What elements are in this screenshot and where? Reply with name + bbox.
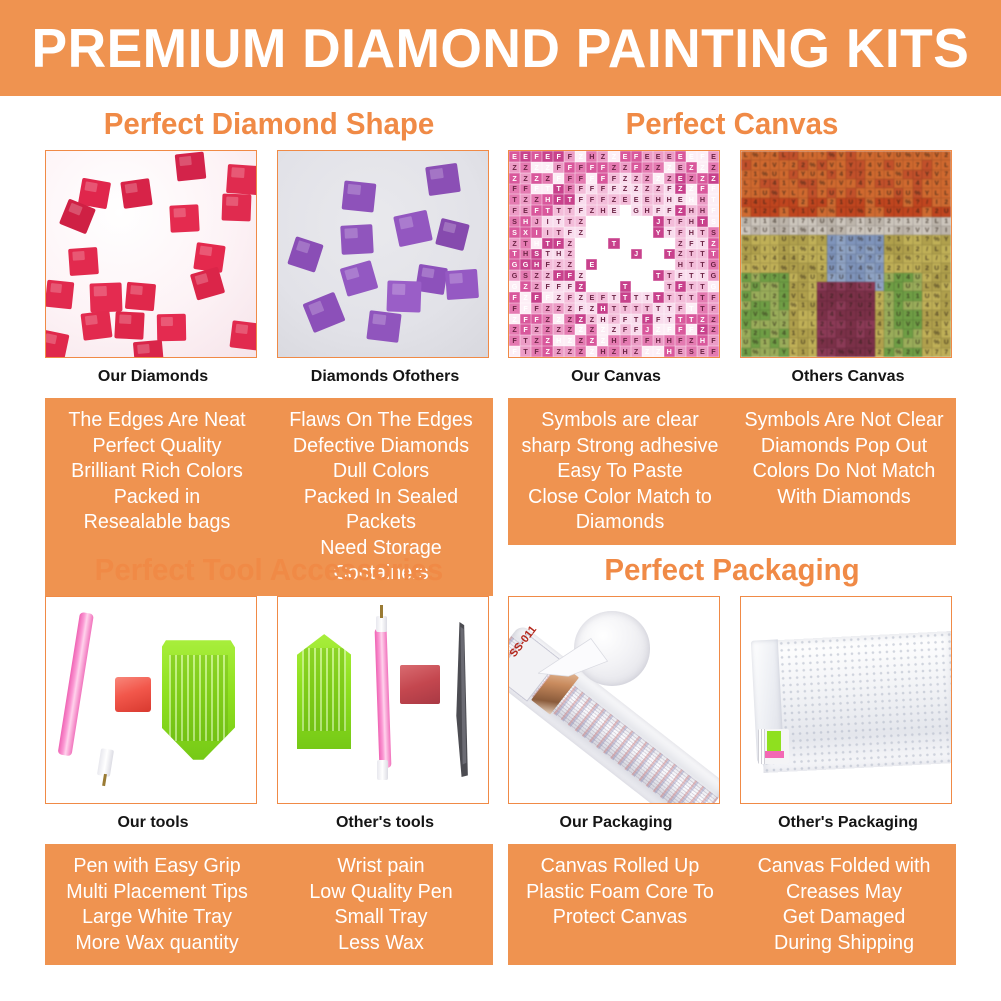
canvas-symbol-cell: ? <box>894 217 904 226</box>
canvas-symbol-cell: 2 <box>827 348 837 357</box>
canvas-symbol-cell: V <box>941 282 951 291</box>
canvas-symbol-cell: V <box>913 320 923 329</box>
page-title: PREMIUM DIAMOND PAINTING KITS <box>32 21 970 76</box>
canvas-symbol-cell: V <box>932 170 942 179</box>
red-drill <box>80 310 112 340</box>
canvas-symbol-cell: % <box>770 282 780 291</box>
canvas-symbol-cell: Z <box>553 346 564 357</box>
canvas-symbol-cell: V <box>770 320 780 329</box>
canvas-symbol-cell: 1 <box>789 245 799 254</box>
compare-line: Symbols Are Not Clear <box>740 407 947 433</box>
canvas-symbol-cell: H <box>520 216 531 227</box>
canvas-symbol-cell: F <box>564 292 575 303</box>
canvas-symbol-cell: Z <box>608 324 619 335</box>
canvas-symbol-cell: F <box>531 151 542 162</box>
canvas-symbol-cell: E <box>686 151 697 162</box>
compare-line: With Diamonds <box>740 484 947 510</box>
canvas-symbol-cell: U <box>894 310 904 319</box>
canvas-symbol-cell: / <box>817 310 827 319</box>
canvas-symbol-cell: ? <box>941 254 951 263</box>
red-drill <box>45 279 75 308</box>
canvas-symbol-cell: Z <box>642 346 653 357</box>
canvas-symbol-cell: S <box>520 270 531 281</box>
canvas-symbol-cell: 1 <box>875 198 885 207</box>
photo-our-packaging: SS-011 <box>508 596 720 804</box>
canvas-symbol-cell: / <box>827 235 837 244</box>
purple-drill <box>425 163 460 196</box>
canvas-symbol-cell: F <box>620 335 631 346</box>
canvas-symbol-cell: % <box>894 348 904 357</box>
canvas-symbol-cell: T <box>620 303 631 314</box>
canvas-symbol-cell: J <box>642 249 653 260</box>
canvas-symbol-cell: H <box>608 335 619 346</box>
canvas-symbol-cell: Z <box>531 162 542 173</box>
canvas-symbol-cell: E <box>586 259 597 270</box>
red-drill <box>115 311 146 339</box>
compare-line: Dull Colors <box>277 458 484 484</box>
canvas-symbol-cell: ? <box>770 198 780 207</box>
canvas-symbol-cell: % <box>808 263 818 272</box>
canvas-symbol-cell: Z <box>575 346 586 357</box>
canvas-symbol-cell: Z <box>675 249 686 260</box>
canvas-symbol-cell: Y <box>789 179 799 188</box>
canvas-symbol-cell: I <box>865 310 875 319</box>
canvas-symbol-cell: F <box>553 194 564 205</box>
canvas-symbol-cell: 1 <box>770 226 780 235</box>
canvas-symbol-cell: V <box>922 348 932 357</box>
canvas-symbol-cell: ? <box>827 329 837 338</box>
canvas-symbol-cell: ? <box>789 235 799 244</box>
canvas-symbol-cell: 4 <box>817 170 827 179</box>
canvas-symbol-cell: I <box>941 245 951 254</box>
canvas-symbol-cell: Y <box>760 273 770 282</box>
canvas-symbol-cell: L <box>741 179 751 188</box>
red-drill <box>229 320 257 350</box>
canvas-symbol-cell: F <box>564 173 575 184</box>
canvas-symbol-cell: T <box>620 270 631 281</box>
canvas-symbol-cell: 7 <box>913 160 923 169</box>
canvas-symbol-cell: F <box>531 346 542 357</box>
canvas-symbol-cell: T <box>697 270 708 281</box>
canvas-symbol-cell: U <box>846 235 856 244</box>
canvas-symbol-cell: % <box>827 207 837 216</box>
canvas-symbol-cell: 2 <box>760 207 770 216</box>
canvas-symbol-cell: 4 <box>760 160 770 169</box>
canvas-symbol-cell: V <box>903 301 913 310</box>
canvas-symbol-cell: 1 <box>798 301 808 310</box>
canvas-symbol-cell: T <box>542 249 553 260</box>
image-cell-others-canvas: L%74L/II?%VI/YLVU%V%V2I44V722%VVLY/4VLU2… <box>740 150 956 387</box>
canvas-symbol-cell: I <box>542 227 553 238</box>
canvas-symbol-cell: F <box>664 184 675 195</box>
canvas-symbol-cell: V <box>751 245 761 254</box>
compare-line: Flaws On The Edges <box>277 407 484 433</box>
canvas-symbol-cell: Z <box>586 303 597 314</box>
canvas-symbol-cell: T <box>631 292 642 303</box>
compare-line: Less Wax <box>277 930 484 956</box>
canvas-symbol-cell: F <box>553 238 564 249</box>
canvas-symbol-cell: 7 <box>846 338 856 347</box>
canvas-symbol-cell: T <box>509 249 520 260</box>
canvas-symbol-cell: ? <box>846 217 856 226</box>
canvas-symbol-cell: Z <box>664 173 675 184</box>
canvas-symbol-cell: F <box>664 324 675 335</box>
canvas-symbol-cell: F <box>597 162 608 173</box>
canvas-symbol-cell: S <box>686 346 697 357</box>
canvas-symbol-cell: T <box>697 216 708 227</box>
canvas-symbol-cell: / <box>922 198 932 207</box>
canvas-symbol-cell: U <box>770 170 780 179</box>
canvas-symbol-cell: L <box>789 348 799 357</box>
canvas-symbol-cell: Y <box>865 151 875 160</box>
canvas-symbol-cell: U <box>808 273 818 282</box>
canvas-symbol-cell: T <box>642 281 653 292</box>
canvas-symbol-cell: 7 <box>856 170 866 179</box>
canvas-symbol-cell: ? <box>751 226 761 235</box>
compare-line: Easy To Paste <box>516 458 723 484</box>
canvas-symbol-cell: 7 <box>836 217 846 226</box>
canvas-symbol-cell: H <box>697 335 708 346</box>
canvas-symbol-cell: H <box>531 259 542 270</box>
canvas-symbol-cell: 7 <box>836 226 846 235</box>
canvas-symbol-cell: U <box>760 188 770 197</box>
canvas-symbol-cell: Z <box>664 162 675 173</box>
canvas-symbol-cell: L <box>875 282 885 291</box>
canvas-symbol-cell: T <box>542 205 553 216</box>
photo-our-tools <box>45 596 257 804</box>
canvas-symbol-cell: 4 <box>827 310 837 319</box>
canvas-symbol-cell: I <box>894 329 904 338</box>
canvas-symbol-cell: T <box>542 238 553 249</box>
canvas-symbol-cell: Z <box>697 173 708 184</box>
canvas-symbol-cell: Z <box>553 259 564 270</box>
wax-square <box>115 677 151 712</box>
canvas-symbol-cell: % <box>836 348 846 357</box>
canvas-symbol-cell: T <box>664 270 675 281</box>
canvas-symbol-cell: T <box>697 227 708 238</box>
canvas-symbol-cell: I <box>808 188 818 197</box>
compare-line: sharp Strong adhesive <box>516 433 723 459</box>
canvas-symbol-cell: 4 <box>875 310 885 319</box>
canvas-symbol-cell: Z <box>542 270 553 281</box>
canvas-symbol-cell: U <box>884 188 894 197</box>
canvas-symbol-cell: L <box>922 282 932 291</box>
canvas-symbol-cell: J <box>631 249 642 260</box>
canvas-symbol-cell: 4 <box>875 320 885 329</box>
canvas-symbol-cell: L <box>856 273 866 282</box>
canvas-symbol-cell: % <box>751 263 761 272</box>
canvas-symbol-cell: J <box>631 227 642 238</box>
canvas-symbol-cell: 4 <box>808 226 818 235</box>
canvas-symbol-cell: I <box>642 216 653 227</box>
canvas-symbol-cell: H <box>531 238 542 249</box>
canvas-symbol-cell: Z <box>631 173 642 184</box>
canvas-symbol-cell: E <box>597 227 608 238</box>
canvas-symbol-cell: U <box>846 198 856 207</box>
canvas-symbol-cell: Z <box>575 281 586 292</box>
canvas-symbol-cell: 2 <box>817 263 827 272</box>
canvas-symbol-cell: U <box>894 320 904 329</box>
canvas-symbol-cell: G <box>509 259 520 270</box>
canvas-symbol-cell: Y <box>836 301 846 310</box>
pen-needle <box>380 605 383 617</box>
canvas-symbol-cell: 2 <box>741 170 751 179</box>
canvas-symbol-cell: 1 <box>779 245 789 254</box>
canvas-symbol-cell: 7 <box>865 291 875 300</box>
pink-pen <box>57 612 93 757</box>
canvas-symbol-cell: T <box>631 281 642 292</box>
compare-line: Small Tray <box>277 904 484 930</box>
canvas-symbol-cell: % <box>884 245 894 254</box>
canvas-symbol-cell: Z <box>586 335 597 346</box>
canvas-symbol-cell: E <box>542 151 553 162</box>
canvas-symbol-cell: Y <box>741 310 751 319</box>
canvas-symbol-cell: % <box>922 151 932 160</box>
canvas-symbol-cell: % <box>932 291 942 300</box>
canvas-symbol-cell: F <box>520 314 531 325</box>
canvas-symbol-cell: ? <box>903 226 913 235</box>
canvas-symbol-cell: T <box>608 270 619 281</box>
canvas-symbol-cell: F <box>597 259 608 270</box>
canvas-symbol-cell: V <box>836 179 846 188</box>
canvas-symbol-cell: 2 <box>789 282 799 291</box>
canvas-symbol-cell: F <box>653 314 664 325</box>
canvas-symbol-cell: G <box>520 259 531 270</box>
photo-other-tools <box>277 596 489 804</box>
canvas-symbol-cell: % <box>751 151 761 160</box>
canvas-symbol-cell: F <box>597 194 608 205</box>
canvas-symbol-cell: F <box>608 184 619 195</box>
canvas-symbol-cell: E <box>675 173 686 184</box>
image-cell-other-diamonds: Diamonds Ofothers <box>277 150 493 387</box>
canvas-symbol-cell: Z <box>509 238 520 249</box>
canvas-symbol-cell: L <box>932 217 942 226</box>
pen-tip-ferrule <box>96 749 113 777</box>
canvas-symbol-cell: E <box>509 151 520 162</box>
canvas-symbol-cell: ? <box>770 301 780 310</box>
canvas-symbol-cell: H <box>653 194 664 205</box>
canvas-symbol-cell: ? <box>827 282 837 291</box>
image-cell-our-tools: Our tools <box>45 596 261 833</box>
purple-drill <box>393 210 432 247</box>
canvas-symbol-cell: L <box>779 151 789 160</box>
canvas-symbol-cell: / <box>846 226 856 235</box>
canvas-symbol-cell: 1 <box>798 207 808 216</box>
canvas-symbol-cell: / <box>856 160 866 169</box>
canvas-symbol-cell: / <box>827 179 837 188</box>
canvas-symbol-cell: L <box>836 245 846 254</box>
canvas-symbol-cell: Z <box>575 335 586 346</box>
canvas-symbol-cell: T <box>520 346 531 357</box>
canvas-symbol-cell: I <box>922 338 932 347</box>
image-cell-other-packaging: Other's Packaging <box>740 596 956 833</box>
canvas-symbol-cell: % <box>760 310 770 319</box>
canvas-symbol-cell: T <box>620 249 631 260</box>
canvas-symbol-cell: / <box>922 245 932 254</box>
canvas-symbol-cell: V <box>932 151 942 160</box>
canvas-symbol-cell: V <box>836 151 846 160</box>
canvas-symbol-cell: 4 <box>856 338 866 347</box>
canvas-symbol-cell: Z <box>509 314 520 325</box>
canvas-symbol-cell: T <box>642 270 653 281</box>
canvas-symbol-cell: 4 <box>751 235 761 244</box>
canvas-symbol-cell: U <box>741 291 751 300</box>
canvas-symbol-cell: % <box>770 188 780 197</box>
canvas-symbol-cell: 2 <box>770 291 780 300</box>
canvas-symbol-cell: 4 <box>779 329 789 338</box>
canvas-symbol-cell: 4 <box>817 198 827 207</box>
canvas-symbol-cell: V <box>913 348 923 357</box>
canvas-symbol-cell: Y <box>922 329 932 338</box>
canvas-symbol-cell: ? <box>922 273 932 282</box>
canvas-symbol-cell: T <box>564 216 575 227</box>
canvas-symbol-cell: T <box>653 249 664 260</box>
canvas-symbol-cell: % <box>808 160 818 169</box>
canvas-symbol-cell: V <box>779 310 789 319</box>
section-title-tool-accessories: Perfect Tool Accessories <box>56 550 482 590</box>
canvas-symbol-cell: F <box>708 335 719 346</box>
canvas-symbol-cell: T <box>642 303 653 314</box>
red-drill <box>157 313 187 340</box>
pink-symbol-grid: EEFEFFZHZZEFEEEEEFEZZZZFFFFFZZFZZZEZZZZZ… <box>509 151 719 357</box>
canvas-symbol-cell: 7 <box>884 329 894 338</box>
canvas-symbol-cell: Z <box>575 259 586 270</box>
canvas-symbol-cell: L <box>817 291 827 300</box>
canvas-symbol-cell: V <box>827 217 837 226</box>
canvas-symbol-cell: % <box>913 188 923 197</box>
canvas-symbol-cell: Z <box>575 216 586 227</box>
canvas-symbol-cell: Y <box>894 198 904 207</box>
canvas-symbol-cell: V <box>789 310 799 319</box>
canvas-symbol-cell: 7 <box>846 170 856 179</box>
photo-others-canvas: L%74L/II?%VI/YLVU%V%V2I44V722%VVLY/4VLU2… <box>740 150 952 358</box>
canvas-symbol-cell: % <box>932 338 942 347</box>
canvas-symbol-cell: ? <box>922 235 932 244</box>
canvas-symbol-cell: T <box>631 303 642 314</box>
canvas-symbol-cell: F <box>542 259 553 270</box>
wax-square <box>400 665 440 704</box>
compare-line: Pen with Easy Grip <box>53 853 260 879</box>
canvas-symbol-cell: 2 <box>903 160 913 169</box>
canvas-symbol-cell: F <box>553 151 564 162</box>
canvas-symbol-cell: I <box>798 310 808 319</box>
canvas-symbol-cell: H <box>675 259 686 270</box>
canvas-symbol-cell: / <box>922 160 932 169</box>
canvas-symbol-cell: I <box>760 348 770 357</box>
canvas-symbol-cell: 1 <box>884 273 894 282</box>
canvas-symbol-cell: 1 <box>922 310 932 319</box>
canvas-symbol-cell: T <box>697 303 708 314</box>
canvas-symbol-cell: I <box>932 198 942 207</box>
canvas-symbol-cell: / <box>913 329 923 338</box>
canvas-symbol-cell: % <box>798 245 808 254</box>
image-row-tools: Our tools <box>45 596 493 833</box>
canvas-symbol-cell: L <box>856 188 866 197</box>
canvas-symbol-cell: T <box>664 216 675 227</box>
canvas-symbol-cell: V <box>941 310 951 319</box>
canvas-symbol-cell: V <box>751 310 761 319</box>
canvas-symbol-cell: E <box>586 292 597 303</box>
canvas-symbol-cell: Z <box>708 324 719 335</box>
canvas-symbol-cell: T <box>686 314 697 325</box>
canvas-symbol-cell: Z <box>575 324 586 335</box>
section-title-canvas: Perfect Canvas <box>519 104 945 144</box>
compare-line: Get Damaged <box>740 904 947 930</box>
canvas-symbol-cell: L <box>913 170 923 179</box>
canvas-symbol-cell: 4 <box>856 179 866 188</box>
canvas-symbol-cell: Z <box>653 162 664 173</box>
canvas-symbol-cell: % <box>846 348 856 357</box>
canvas-symbol-cell: 2 <box>798 198 808 207</box>
canvas-symbol-cell: Z <box>531 335 542 346</box>
canvas-symbol-cell: 1 <box>741 348 751 357</box>
compare-line: Creases May <box>740 879 947 905</box>
section-diamond-shape: Perfect Diamond Shape <box>45 104 493 596</box>
canvas-symbol-cell: 7 <box>846 301 856 310</box>
canvas-symbol-cell: H <box>553 249 564 260</box>
canvas-symbol-cell: ? <box>865 188 875 197</box>
canvas-symbol-cell: F <box>564 184 575 195</box>
canvas-symbol-cell: 4 <box>922 179 932 188</box>
canvas-symbol-cell: F <box>675 303 686 314</box>
canvas-symbol-cell: U <box>903 188 913 197</box>
canvas-symbol-cell: L <box>751 291 761 300</box>
canvas-symbol-cell: I <box>903 245 913 254</box>
canvas-symbol-cell: 7 <box>856 198 866 207</box>
canvas-symbol-cell: U <box>741 282 751 291</box>
canvas-symbol-cell: ? <box>817 151 827 160</box>
canvas-symbol-cell: / <box>798 263 808 272</box>
canvas-symbol-cell: 4 <box>846 291 856 300</box>
canvas-symbol-cell: L <box>941 188 951 197</box>
canvas-symbol-cell: Z <box>531 281 542 292</box>
canvas-symbol-cell: F <box>564 227 575 238</box>
canvas-symbol-cell: U <box>836 273 846 282</box>
canvas-symbol-cell: Z <box>520 162 531 173</box>
canvas-symbol-cell: 4 <box>770 338 780 347</box>
canvas-symbol-cell: 2 <box>941 151 951 160</box>
canvas-symbol-cell: Y <box>808 338 818 347</box>
canvas-symbol-cell: F <box>597 270 608 281</box>
canvas-symbol-cell: H <box>597 314 608 325</box>
canvas-symbol-cell: Z <box>542 303 553 314</box>
canvas-symbol-cell: 7 <box>827 273 837 282</box>
canvas-symbol-cell: Z <box>642 162 653 173</box>
canvas-symbol-cell: 7 <box>760 151 770 160</box>
canvas-symbol-cell: Z <box>653 324 664 335</box>
canvas-symbol-cell: % <box>770 329 780 338</box>
canvas-symbol-cell: H <box>520 249 531 260</box>
canvas-symbol-cell: F <box>509 303 520 314</box>
large-green-tray <box>162 640 236 759</box>
canvas-symbol-cell: T <box>642 259 653 270</box>
canvas-symbol-cell: / <box>941 291 951 300</box>
canvas-symbol-cell: 1 <box>903 217 913 226</box>
canvas-symbol-cell: / <box>836 329 846 338</box>
canvas-symbol-cell: 1 <box>932 320 942 329</box>
canvas-symbol-cell: F <box>675 270 686 281</box>
infographic-page: PREMIUM DIAMOND PAINTING KITS Perfect Di… <box>0 0 1001 1001</box>
canvas-symbol-cell: Z <box>520 194 531 205</box>
canvas-symbol-cell: F <box>586 184 597 195</box>
canvas-symbol-cell: Z <box>631 346 642 357</box>
image-row-diamond-shape: Our Diamonds Dia <box>45 150 493 387</box>
canvas-symbol-cell: I <box>779 301 789 310</box>
canvas-symbol-cell: 2 <box>865 282 875 291</box>
compare-line: Protect Canvas <box>516 904 723 930</box>
canvas-symbol-cell: F <box>686 324 697 335</box>
canvas-symbol-cell: Z <box>653 184 664 195</box>
